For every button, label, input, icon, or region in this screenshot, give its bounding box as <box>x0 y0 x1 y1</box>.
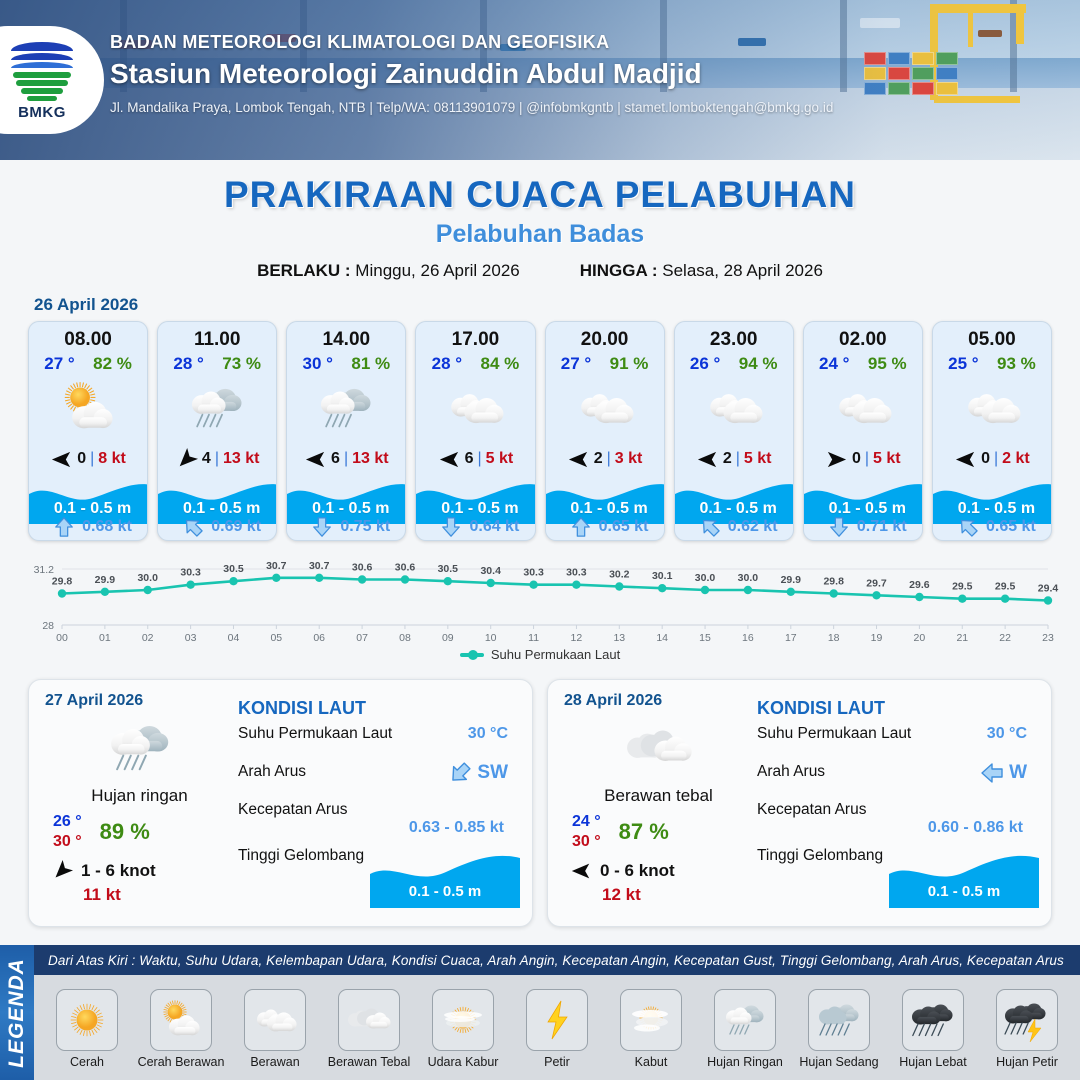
sst-row: Suhu Permukaan Laut30 °C <box>238 725 518 763</box>
legend-side-banner: LEGENDA <box>0 945 34 1080</box>
outlook-temp-max: 30 ° <box>53 832 82 852</box>
svg-text:29.7: 29.7 <box>866 577 887 589</box>
svg-text:29.5: 29.5 <box>952 581 973 593</box>
card-weather-icon <box>287 374 405 442</box>
sea-conditions-title: KONDISI LAUT <box>238 698 518 719</box>
svg-text:30.0: 30.0 <box>738 572 759 584</box>
wind-direction-arrow-icon <box>46 855 77 886</box>
current-direction-label: Arah Arus <box>757 763 825 780</box>
wind-direction-arrow-icon <box>50 448 73 471</box>
card-wave-height: 0.1 - 0.5 m <box>804 500 923 518</box>
svg-text:22: 22 <box>999 632 1011 644</box>
wind-direction-arrow-icon <box>570 860 592 882</box>
daily-outlook-panel: 28 April 2026Berawan tebal24 °30 °87 %0 … <box>547 679 1052 927</box>
svg-text:29.8: 29.8 <box>52 576 73 588</box>
card-gust-speed: 5 kt <box>744 450 772 468</box>
legend-item-label: Berawan Tebal <box>328 1055 410 1069</box>
svg-text:20: 20 <box>914 632 926 644</box>
outlook-sea-conditions: KONDISI LAUTSuhu Permukaan Laut30 °CArah… <box>753 680 1051 926</box>
card-wind-speed: 0 <box>981 450 990 468</box>
chart-legend-label: Suhu Permukaan Laut <box>491 647 620 662</box>
page-header: BMKG BADAN METEOROLOGI KLIMATOLOGI DAN G… <box>0 0 1080 160</box>
bmkg-logo: BMKG <box>0 26 104 134</box>
card-temperature: 30 ° <box>302 354 332 374</box>
card-current-row: 0.65 kt <box>546 516 665 538</box>
card-time: 14.00 <box>287 329 405 351</box>
svg-text:00: 00 <box>56 632 68 644</box>
sst-value: 30 °C <box>987 725 1027 743</box>
outlook-condition: Berawan tebal <box>564 786 753 806</box>
card-metrics: 27 °91 % <box>546 354 664 374</box>
card-weather-icon <box>804 374 922 442</box>
weather-icon-berawan <box>959 375 1025 441</box>
legend-item: Berawan Tebal <box>323 989 415 1069</box>
legend-item-label: Petir <box>544 1055 570 1069</box>
svg-text:30.5: 30.5 <box>438 563 459 575</box>
svg-text:29.6: 29.6 <box>909 579 930 591</box>
current-direction-value: SW <box>448 761 508 785</box>
forecast-day-label: 26 April 2026 <box>34 295 1080 315</box>
contact-line: Jl. Mandalika Praya, Lombok Tengah, NTB … <box>110 100 833 115</box>
page-subtitle: Pelabuhan Badas <box>0 220 1080 249</box>
svg-text:30.6: 30.6 <box>395 562 416 574</box>
card-current-speed: 0.68 kt <box>82 518 132 536</box>
card-current-row: 0.75 kt <box>287 516 406 538</box>
chart-legend-marker-icon <box>460 653 484 657</box>
card-wave-height: 0.1 - 0.5 m <box>416 500 535 518</box>
forecast-card: 17.0028 °84 %6|5 kt0.1 - 0.5 m0.64 kt <box>415 321 535 541</box>
weather-icon-hujan-petir <box>1002 995 1052 1045</box>
legend-item-label: Cerah <box>70 1055 104 1069</box>
forecast-card: 23.0026 °94 %2|5 kt0.1 - 0.5 m0.62 kt <box>674 321 794 541</box>
card-gust-speed: 5 kt <box>873 450 901 468</box>
svg-text:16: 16 <box>742 632 754 644</box>
legend-item: Hujan Ringan <box>699 989 791 1069</box>
card-wind-divider: | <box>215 450 219 468</box>
card-weather-icon <box>675 374 793 442</box>
card-metrics: 26 °94 % <box>675 354 793 374</box>
agency-name: BADAN METEOROLOGI KLIMATOLOGI DAN GEOFIS… <box>110 32 833 53</box>
svg-text:30.7: 30.7 <box>309 560 330 572</box>
card-wind-divider: | <box>344 450 348 468</box>
outlook-temp-humidity: 26 °30 °89 % <box>45 812 234 852</box>
legend-item: Cerah Berawan <box>135 989 227 1069</box>
card-humidity: 84 % <box>481 354 520 374</box>
svg-text:03: 03 <box>185 632 197 644</box>
svg-text:29.9: 29.9 <box>95 574 116 586</box>
outlook-humidity: 89 % <box>100 819 150 845</box>
wave-height-label: Tinggi Gelombang <box>238 847 364 864</box>
weather-icon-petir <box>532 995 582 1045</box>
current-speed-row: Kecepatan Arus <box>238 801 518 827</box>
card-wave-block: 0.1 - 0.5 m0.75 kt <box>287 478 405 540</box>
outlook-left: 28 April 2026Berawan tebal24 °30 °87 %0 … <box>548 680 753 926</box>
card-wind-divider: | <box>736 450 740 468</box>
outlook-wave-graphic: 0.1 - 0.5 m <box>370 852 520 908</box>
legend-icon-tile <box>338 989 400 1051</box>
valid-to-value: Selasa, 28 April 2026 <box>662 261 823 280</box>
weather-icon-hujan-ringan <box>313 375 379 441</box>
card-wind-row: 0|8 kt <box>29 442 147 476</box>
wave-height-label: Tinggi Gelombang <box>757 847 883 864</box>
hourly-forecast-row: 08.0027 °82 %0|8 kt0.1 - 0.5 m0.68 kt11.… <box>0 321 1080 541</box>
card-weather-icon <box>933 374 1051 442</box>
current-direction-arrow-icon <box>311 516 333 538</box>
header-text-block: BADAN METEOROLOGI KLIMATOLOGI DAN GEOFIS… <box>110 32 833 115</box>
outlook-date: 28 April 2026 <box>564 692 753 710</box>
card-wave-block: 0.1 - 0.5 m0.64 kt <box>416 478 534 540</box>
legend-strip: LEGENDA Dari Atas Kiri : Waktu, Suhu Uda… <box>0 945 1080 1080</box>
card-humidity: 91 % <box>610 354 649 374</box>
legend-item: Berawan <box>229 989 321 1069</box>
svg-text:17: 17 <box>785 632 797 644</box>
bmkg-emblem-icon <box>11 40 73 102</box>
weather-icon-berawan <box>250 995 300 1045</box>
card-temperature: 25 ° <box>948 354 978 374</box>
outlook-sea-conditions: KONDISI LAUTSuhu Permukaan Laut30 °CArah… <box>234 680 532 926</box>
card-gust-speed: 13 kt <box>223 450 259 468</box>
card-temperature: 28 ° <box>432 354 462 374</box>
svg-text:19: 19 <box>871 632 883 644</box>
card-gust-speed: 8 kt <box>98 450 126 468</box>
weather-icon-cerah <box>62 995 112 1045</box>
wind-direction-arrow-icon <box>825 448 848 471</box>
card-gust-speed: 5 kt <box>486 450 514 468</box>
card-metrics: 28 °84 % <box>416 354 534 374</box>
current-speed-label: Kecepatan Arus <box>238 801 347 818</box>
svg-text:30.2: 30.2 <box>609 569 630 581</box>
legend-icon-tile <box>714 989 776 1051</box>
card-wind-divider: | <box>607 450 611 468</box>
svg-text:15: 15 <box>699 632 711 644</box>
svg-text:30.3: 30.3 <box>180 567 201 579</box>
card-time: 02.00 <box>804 329 922 351</box>
legend-item: Hujan Petir <box>981 989 1073 1069</box>
current-direction-text: SW <box>477 762 508 784</box>
card-humidity: 81 % <box>351 354 390 374</box>
outlook-temps: 24 °30 ° <box>572 812 601 852</box>
legend-item: Hujan Sedang <box>793 989 885 1069</box>
card-time: 23.00 <box>675 329 793 351</box>
sst-value: 30 °C <box>468 725 508 743</box>
weather-icon-hujan-sedang <box>814 995 864 1045</box>
wind-direction-arrow-icon <box>170 443 203 476</box>
card-wave-block: 0.1 - 0.5 m0.65 kt <box>933 478 1051 540</box>
current-direction-arrow-icon <box>443 756 477 790</box>
weather-icon-udara-kabur <box>438 995 488 1045</box>
card-wind-row: 0|2 kt <box>933 442 1051 476</box>
daily-outlook-panel: 27 April 2026Hujan ringan26 °30 °89 %1 -… <box>28 679 533 927</box>
svg-text:28: 28 <box>42 620 54 632</box>
card-temperature: 28 ° <box>173 354 203 374</box>
weather-icon-hujan-ringan <box>720 995 770 1045</box>
legend-item: Hujan Lebat <box>887 989 979 1069</box>
title-block: PRAKIRAAN CUACA PELABUHAN Pelabuhan Bada… <box>0 160 1080 281</box>
weather-icon-cerah-berawan <box>156 995 206 1045</box>
card-time: 11.00 <box>158 329 276 351</box>
card-wave-height: 0.1 - 0.5 m <box>546 500 665 518</box>
legend-icon-tile <box>432 989 494 1051</box>
legend-item-label: Berawan <box>250 1055 299 1069</box>
outlook-temp-humidity: 24 °30 °87 % <box>564 812 753 852</box>
valid-from-value: Minggu, 26 April 2026 <box>355 261 519 280</box>
daily-outlook-row: 27 April 2026Hujan ringan26 °30 °89 %1 -… <box>0 673 1080 927</box>
legend-icon-tile <box>244 989 306 1051</box>
legend-item-label: Hujan Sedang <box>799 1055 878 1069</box>
legend-icon-tile <box>996 989 1058 1051</box>
svg-text:30.1: 30.1 <box>652 570 673 582</box>
card-wave-block: 0.1 - 0.5 m0.65 kt <box>546 478 664 540</box>
outlook-temp-min: 24 ° <box>572 812 601 832</box>
card-wind-row: 4|13 kt <box>158 442 276 476</box>
legend-side-title: LEGENDA <box>5 958 29 1068</box>
legend-icon-tile <box>620 989 682 1051</box>
legend-item: Cerah <box>41 989 133 1069</box>
card-wind-speed: 6 <box>465 450 474 468</box>
svg-text:21: 21 <box>956 632 968 644</box>
valid-from: BERLAKU : Minggu, 26 April 2026 <box>257 261 520 281</box>
forecast-card: 08.0027 °82 %0|8 kt0.1 - 0.5 m0.68 kt <box>28 321 148 541</box>
svg-text:07: 07 <box>356 632 368 644</box>
card-wind-speed: 6 <box>331 450 340 468</box>
card-temperature: 27 ° <box>44 354 74 374</box>
svg-text:30.0: 30.0 <box>137 572 158 584</box>
card-weather-icon <box>158 374 276 442</box>
chart-legend: Suhu Permukaan Laut <box>18 647 1062 662</box>
card-current-speed: 0.75 kt <box>340 518 390 536</box>
svg-text:08: 08 <box>399 632 411 644</box>
weather-icon-berawan-tebal <box>344 995 394 1045</box>
outlook-weather-icon <box>564 712 753 784</box>
card-wave-height: 0.1 - 0.5 m <box>933 500 1052 518</box>
card-temperature: 27 ° <box>561 354 591 374</box>
weather-icon-kabut <box>626 995 676 1045</box>
card-current-speed: 0.69 kt <box>211 518 261 536</box>
outlook-weather-icon <box>45 712 234 784</box>
outlook-wave-value: 0.1 - 0.5 m <box>370 883 520 900</box>
legend-item-label: Hujan Lebat <box>899 1055 966 1069</box>
card-wind-speed: 0 <box>77 450 86 468</box>
card-wave-height: 0.1 - 0.5 m <box>287 500 406 518</box>
current-speed-row: Kecepatan Arus <box>757 801 1037 827</box>
legend-main: Dari Atas Kiri : Waktu, Suhu Udara, Kele… <box>34 945 1080 1080</box>
svg-text:30.4: 30.4 <box>480 565 501 577</box>
svg-text:30.3: 30.3 <box>566 567 587 579</box>
svg-text:30.0: 30.0 <box>695 572 716 584</box>
sst-label: Suhu Permukaan Laut <box>238 725 392 742</box>
svg-text:10: 10 <box>485 632 497 644</box>
card-wind-row: 0|5 kt <box>804 442 922 476</box>
svg-text:30.3: 30.3 <box>523 567 544 579</box>
card-current-speed: 0.65 kt <box>599 518 649 536</box>
card-time: 17.00 <box>416 329 534 351</box>
svg-text:29.4: 29.4 <box>1038 583 1059 595</box>
legend-item-label: Kabut <box>635 1055 668 1069</box>
outlook-gust: 12 kt <box>564 885 753 905</box>
card-metrics: 27 °82 % <box>29 354 147 374</box>
wind-direction-arrow-icon <box>567 448 590 471</box>
svg-text:13: 13 <box>613 632 625 644</box>
svg-text:30.7: 30.7 <box>266 560 287 572</box>
valid-to-label: HINGGA : <box>580 261 658 280</box>
current-direction-value: W <box>980 761 1027 785</box>
forecast-card: 14.0030 °81 %6|13 kt0.1 - 0.5 m0.75 kt <box>286 321 406 541</box>
current-direction-arrow-icon <box>980 761 1004 785</box>
legend-items-row: CerahCerah BerawanBerawanBerawan TebalUd… <box>34 975 1080 1080</box>
card-metrics: 25 °93 % <box>933 354 1051 374</box>
legend-icon-tile <box>808 989 870 1051</box>
card-weather-icon <box>416 374 534 442</box>
card-current-row: 0.65 kt <box>933 516 1052 538</box>
svg-text:01: 01 <box>99 632 111 644</box>
outlook-date: 27 April 2026 <box>45 692 234 710</box>
sst-chart: 31.22829.829.930.030.330.530.730.730.630… <box>18 553 1062 673</box>
forecast-card: 05.0025 °93 %0|2 kt0.1 - 0.5 m0.65 kt <box>932 321 1052 541</box>
card-wind-divider: | <box>865 450 869 468</box>
weather-icon-cerah-berawan <box>55 375 121 441</box>
card-wave-height: 0.1 - 0.5 m <box>675 500 794 518</box>
svg-text:11: 11 <box>528 632 539 644</box>
card-current-speed: 0.71 kt <box>857 518 907 536</box>
card-metrics: 28 °73 % <box>158 354 276 374</box>
card-temperature: 26 ° <box>690 354 720 374</box>
weather-icon-berawan-tebal <box>621 710 697 786</box>
bmkg-logo-text: BMKG <box>18 104 66 121</box>
svg-text:30.5: 30.5 <box>223 563 244 575</box>
card-wind-divider: | <box>478 450 482 468</box>
card-wave-height: 0.1 - 0.5 m <box>29 500 148 518</box>
current-direction-arrow-icon <box>440 516 462 538</box>
svg-text:14: 14 <box>656 632 668 644</box>
validity-row: BERLAKU : Minggu, 26 April 2026 HINGGA :… <box>0 261 1080 281</box>
card-metrics: 30 °81 % <box>287 354 405 374</box>
card-temperature: 24 ° <box>819 354 849 374</box>
card-wave-height: 0.1 - 0.5 m <box>158 500 277 518</box>
card-gust-speed: 13 kt <box>352 450 388 468</box>
weather-icon-hujan-ringan <box>102 710 178 786</box>
card-wind-row: 6|13 kt <box>287 442 405 476</box>
svg-text:29.9: 29.9 <box>781 574 802 586</box>
card-current-row: 0.62 kt <box>675 516 794 538</box>
card-wave-block: 0.1 - 0.5 m0.71 kt <box>804 478 922 540</box>
card-wind-speed: 0 <box>852 450 861 468</box>
card-current-row: 0.64 kt <box>416 516 535 538</box>
svg-text:31.2: 31.2 <box>34 564 55 576</box>
card-humidity: 73 % <box>222 354 261 374</box>
legend-item: Kabut <box>605 989 697 1069</box>
svg-text:12: 12 <box>571 632 583 644</box>
legend-icon-tile <box>56 989 118 1051</box>
current-direction-row: Arah ArusSW <box>238 763 518 801</box>
valid-from-label: BERLAKU : <box>257 261 351 280</box>
card-wind-divider: | <box>994 450 998 468</box>
legend-item: Udara Kabur <box>417 989 509 1069</box>
card-time: 08.00 <box>29 329 147 351</box>
wind-direction-arrow-icon <box>696 448 719 471</box>
sst-chart-svg: 31.22829.829.930.030.330.530.730.730.630… <box>18 553 1062 645</box>
card-humidity: 94 % <box>739 354 778 374</box>
current-direction-row: Arah ArusW <box>757 763 1037 801</box>
legend-icon-tile <box>526 989 588 1051</box>
valid-to: HINGGA : Selasa, 28 April 2026 <box>580 261 823 281</box>
current-direction-label: Arah Arus <box>238 763 306 780</box>
card-wind-speed: 2 <box>594 450 603 468</box>
card-current-row: 0.69 kt <box>158 516 277 538</box>
current-speed-label: Kecepatan Arus <box>757 801 866 818</box>
current-direction-arrow-icon <box>53 516 75 538</box>
card-wind-row: 2|5 kt <box>675 442 793 476</box>
sst-label: Suhu Permukaan Laut <box>757 725 911 742</box>
card-wind-divider: | <box>90 450 94 468</box>
outlook-wave-value: 0.1 - 0.5 m <box>889 883 1039 900</box>
svg-text:18: 18 <box>828 632 840 644</box>
outlook-wind-range: 0 - 6 knot <box>600 861 675 881</box>
outlook-wave-graphic: 0.1 - 0.5 m <box>889 852 1039 908</box>
forecast-card: 11.0028 °73 %4|13 kt0.1 - 0.5 m0.69 kt <box>157 321 277 541</box>
card-time: 20.00 <box>546 329 664 351</box>
card-current-row: 0.68 kt <box>29 516 148 538</box>
svg-text:06: 06 <box>313 632 325 644</box>
svg-text:04: 04 <box>228 632 240 644</box>
svg-text:05: 05 <box>270 632 282 644</box>
card-humidity: 93 % <box>997 354 1036 374</box>
outlook-left: 27 April 2026Hujan ringan26 °30 °89 %1 -… <box>29 680 234 926</box>
card-weather-icon <box>546 374 664 442</box>
outlook-wind-row: 0 - 6 knot <box>564 860 753 882</box>
legend-item-label: Hujan Ringan <box>707 1055 783 1069</box>
sea-conditions-title: KONDISI LAUT <box>757 698 1037 719</box>
outlook-humidity: 87 % <box>619 819 669 845</box>
card-humidity: 82 % <box>93 354 132 374</box>
card-gust-speed: 2 kt <box>1002 450 1030 468</box>
card-current-speed: 0.64 kt <box>469 518 519 536</box>
card-humidity: 95 % <box>868 354 907 374</box>
outlook-gust: 11 kt <box>45 885 234 905</box>
wind-direction-arrow-icon <box>438 448 461 471</box>
card-current-row: 0.71 kt <box>804 516 923 538</box>
outlook-temp-max: 30 ° <box>572 832 601 852</box>
svg-text:23: 23 <box>1042 632 1054 644</box>
weather-icon-hujan-ringan <box>184 375 250 441</box>
outlook-wind-row: 1 - 6 knot <box>45 860 234 882</box>
card-metrics: 24 °95 % <box>804 354 922 374</box>
legend-item: Petir <box>511 989 603 1069</box>
weather-icon-hujan-lebat <box>908 995 958 1045</box>
weather-icon-berawan <box>572 375 638 441</box>
card-weather-icon <box>29 374 147 442</box>
card-wind-speed: 4 <box>202 450 211 468</box>
current-direction-arrow-icon <box>570 516 592 538</box>
svg-text:02: 02 <box>142 632 154 644</box>
card-wind-row: 2|3 kt <box>546 442 664 476</box>
card-wind-speed: 2 <box>723 450 732 468</box>
wind-direction-arrow-icon <box>304 448 327 471</box>
forecast-card: 20.0027 °91 %2|3 kt0.1 - 0.5 m0.65 kt <box>545 321 665 541</box>
legend-item-label: Hujan Petir <box>996 1055 1058 1069</box>
legend-icon-tile <box>150 989 212 1051</box>
outlook-temp-min: 26 ° <box>53 812 82 832</box>
outlook-wind-range: 1 - 6 knot <box>81 861 156 881</box>
outlook-temps: 26 °30 ° <box>53 812 82 852</box>
card-current-speed: 0.65 kt <box>986 518 1036 536</box>
card-wind-row: 6|5 kt <box>416 442 534 476</box>
legend-item-label: Udara Kabur <box>428 1055 499 1069</box>
weather-icon-berawan <box>701 375 767 441</box>
page-title: PRAKIRAAN CUACA PELABUHAN <box>0 174 1080 216</box>
card-wave-block: 0.1 - 0.5 m0.62 kt <box>675 478 793 540</box>
svg-text:29.8: 29.8 <box>823 576 844 588</box>
weather-icon-berawan <box>830 375 896 441</box>
